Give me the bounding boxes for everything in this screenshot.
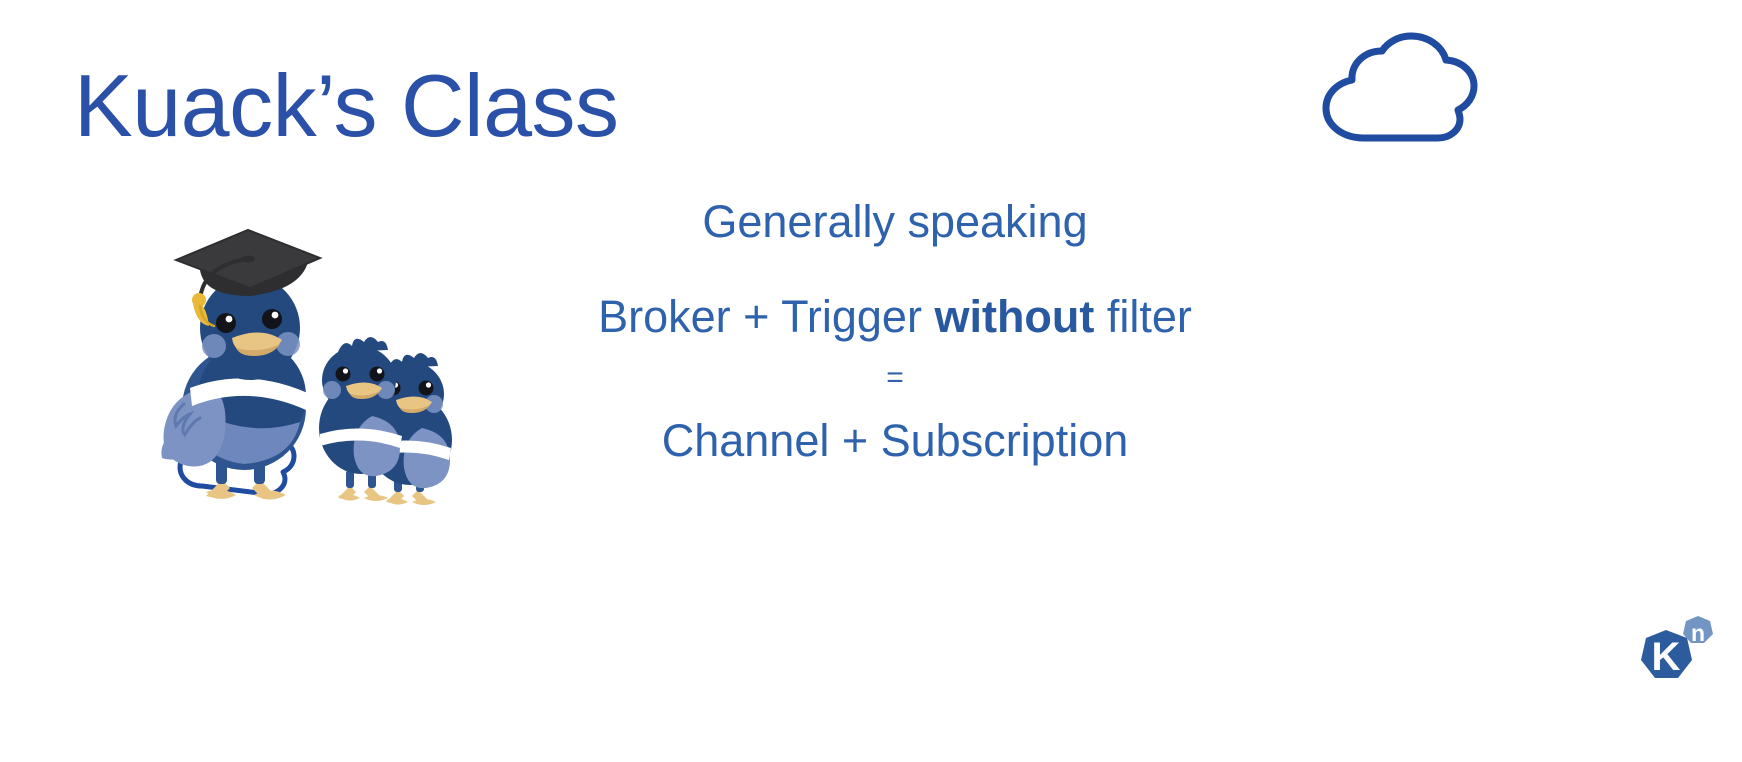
slide-body-text: Generally speaking Broker + Trigger with… xyxy=(540,196,1250,466)
body-line-equals-sign: = xyxy=(540,363,1250,393)
page-title: Kuack’s Class xyxy=(74,62,619,150)
body-line-channel-subscription: Channel + Subscription xyxy=(540,415,1250,467)
cloud-outline-icon xyxy=(1312,30,1482,145)
body-line-equation: Broker + Trigger without filter xyxy=(540,291,1250,343)
equation-text-before-emphasis: Broker + Trigger xyxy=(598,291,934,342)
graduate-bird-with-chicks-illustration xyxy=(160,218,510,518)
body-line-generally-speaking: Generally speaking xyxy=(540,196,1250,248)
equation-text-after-emphasis: filter xyxy=(1094,291,1192,342)
knative-logo: K n xyxy=(1630,596,1720,686)
knative-logo-letter-k: K xyxy=(1652,635,1681,679)
knative-logo-letter-n: n xyxy=(1691,620,1705,646)
slide-canvas: Kuack’s Class xyxy=(0,0,1742,762)
equation-emphasis-without: without xyxy=(934,291,1094,342)
